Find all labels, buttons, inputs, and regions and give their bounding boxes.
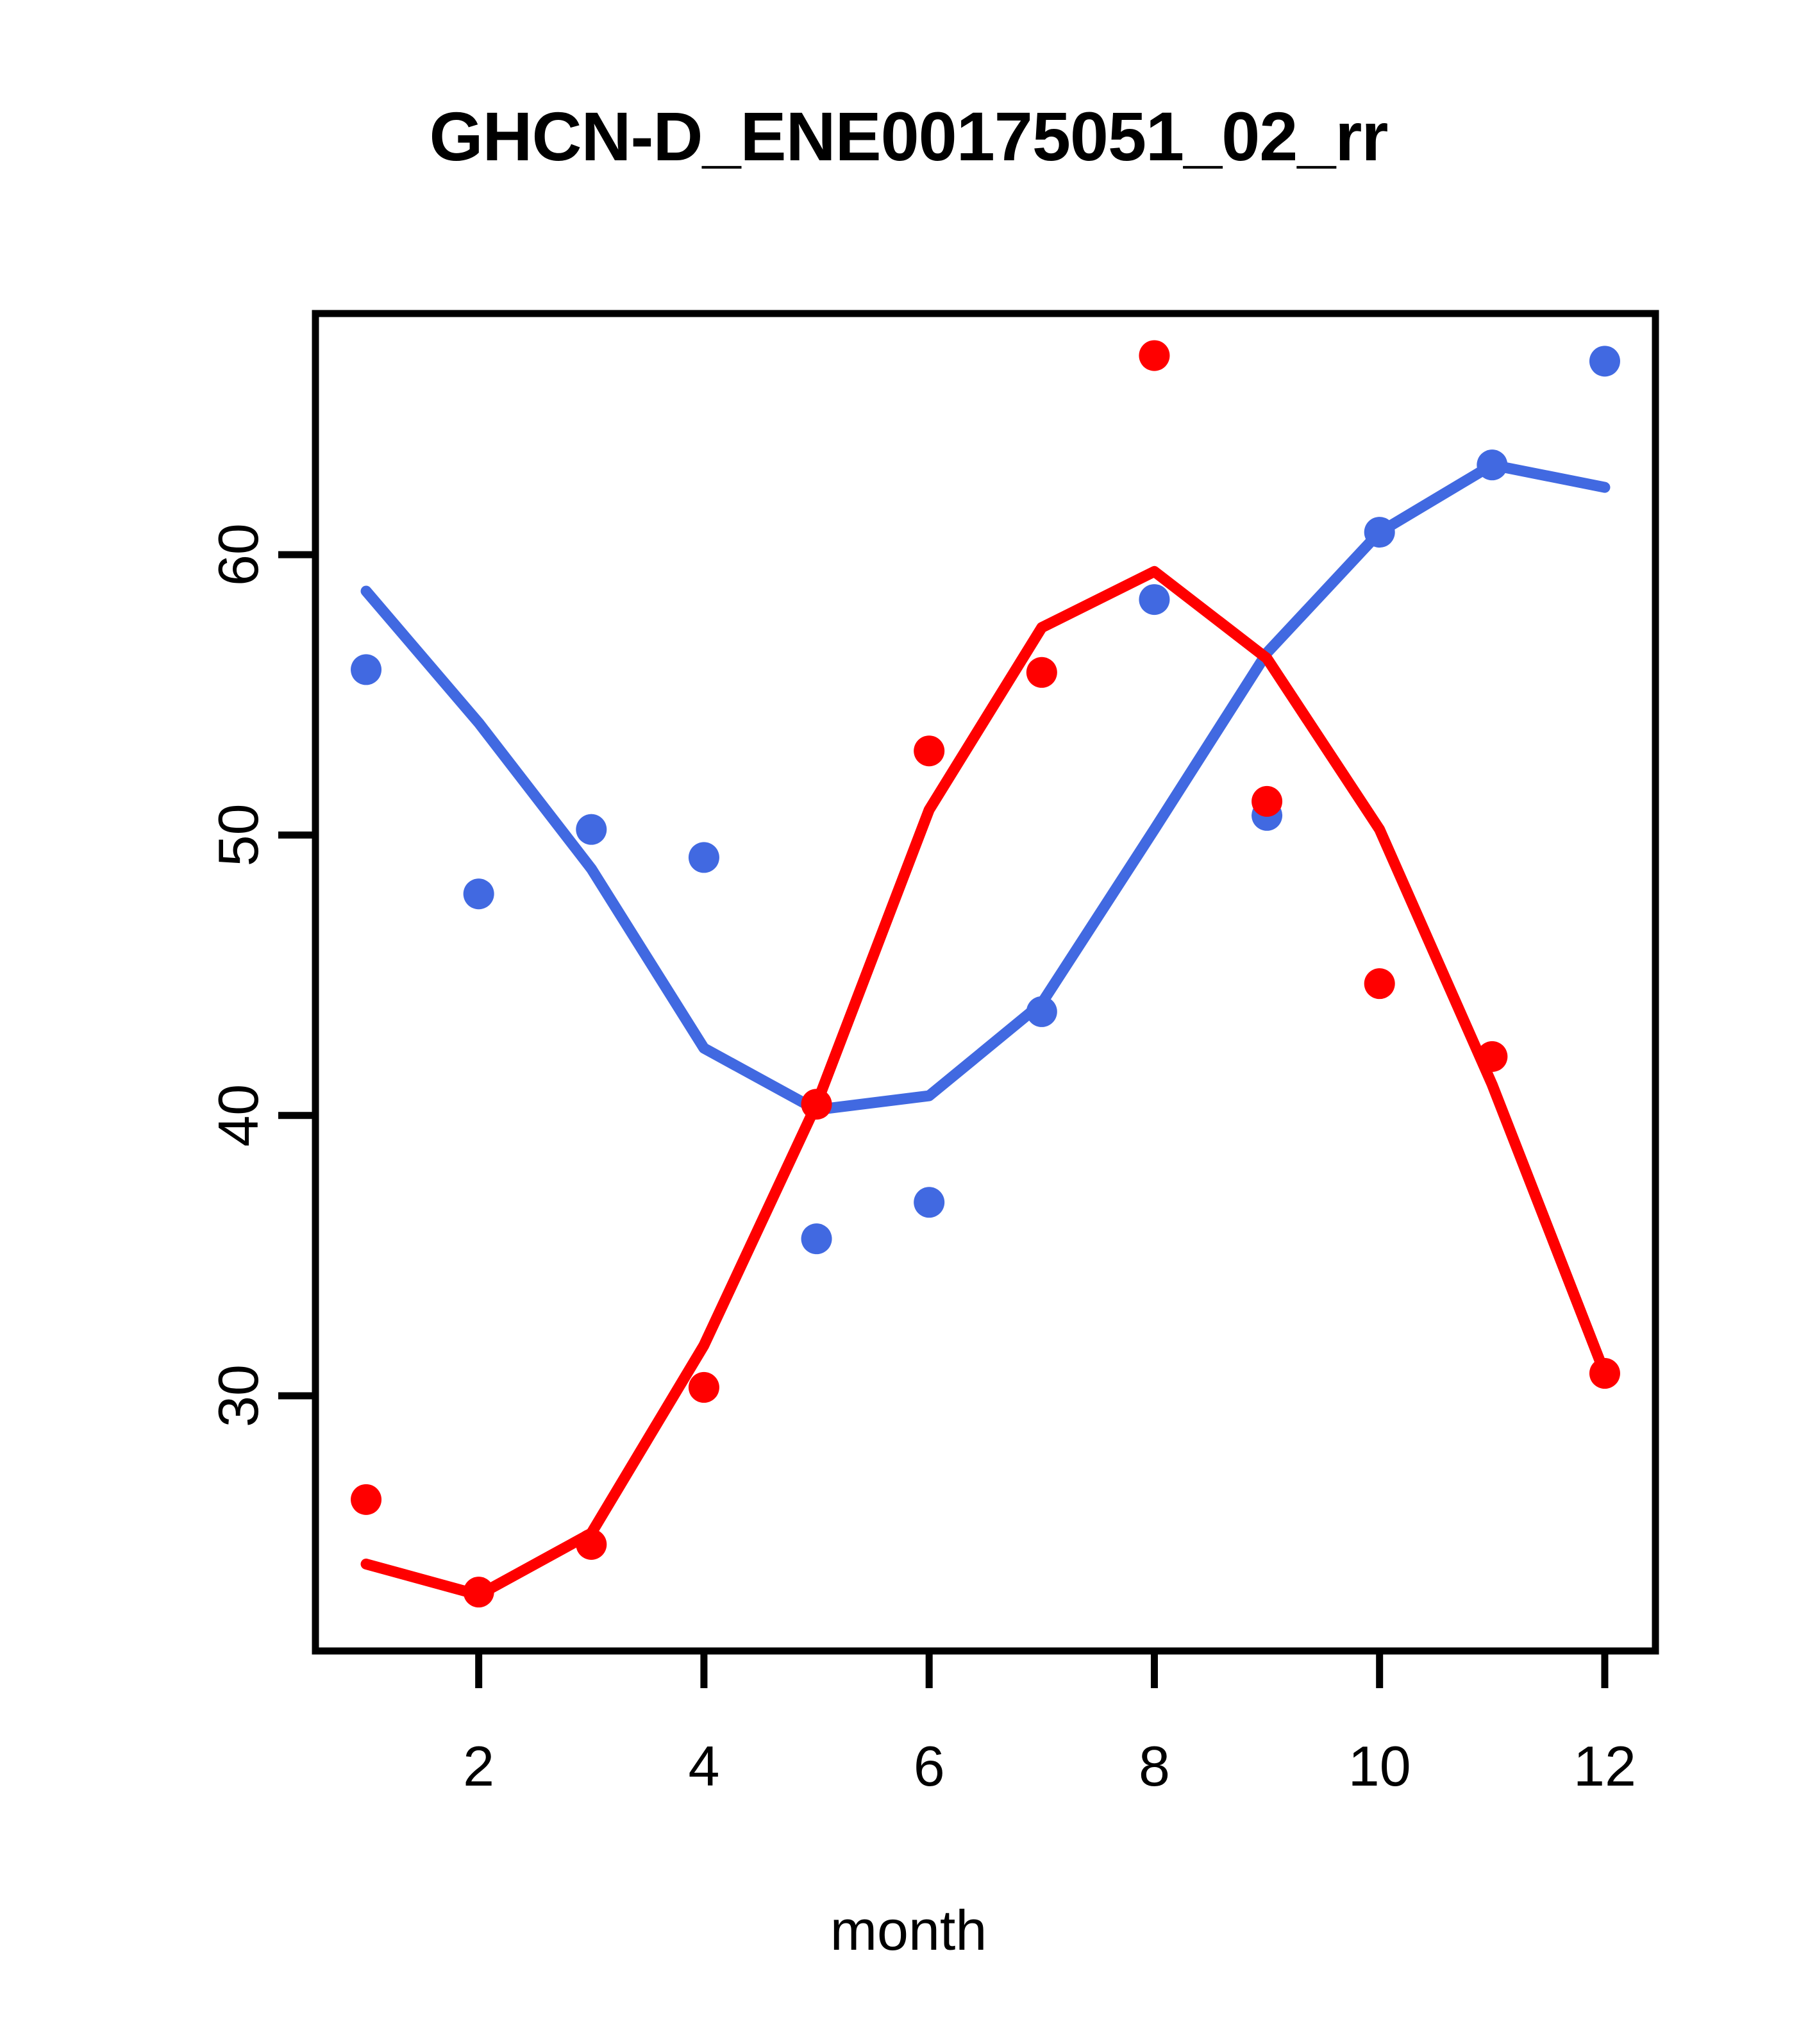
- series-line-blue: [366, 465, 1605, 1110]
- data-point-blue: [914, 1187, 944, 1218]
- x-tick-label: 8: [1139, 1734, 1170, 1798]
- y-tick-label: 60: [206, 523, 270, 586]
- data-point-red: [1589, 1358, 1620, 1389]
- data-point-blue: [464, 878, 494, 909]
- data-point-red: [1364, 968, 1395, 999]
- plot-area: 24681012 30405060: [0, 0, 1817, 2044]
- data-point-red: [1139, 340, 1169, 371]
- data-point-blue: [801, 1223, 832, 1254]
- data-point-blue: [1589, 346, 1620, 376]
- data-point-blue: [689, 842, 719, 873]
- data-point-blue: [1477, 449, 1507, 480]
- data-point-blue: [351, 654, 381, 685]
- y-tick-label: 40: [206, 1084, 270, 1147]
- data-point-blue: [1364, 517, 1395, 548]
- x-tick-label: 2: [463, 1734, 494, 1798]
- y-axis-ticks: 30405060: [206, 523, 315, 1427]
- x-tick-label: 6: [914, 1734, 945, 1798]
- x-tick-label: 10: [1348, 1734, 1411, 1798]
- data-point-red: [464, 1577, 494, 1607]
- plot-frame: [315, 314, 1655, 1651]
- data-point-blue: [1139, 584, 1169, 615]
- series-line-red: [366, 571, 1605, 1595]
- data-point-red: [914, 735, 944, 766]
- data-point-red: [1252, 786, 1282, 817]
- x-tick-label: 12: [1573, 1734, 1636, 1798]
- data-point-red: [801, 1089, 832, 1119]
- data-point-blue: [1026, 996, 1057, 1027]
- data-point-red: [689, 1372, 719, 1403]
- chart-figure: GHCN-D_ENE00175051_02_rr 24681012 304050…: [0, 0, 1817, 2044]
- data-point-blue: [576, 814, 607, 845]
- x-axis-ticks: 24681012: [463, 1651, 1636, 1798]
- data-point-red: [351, 1484, 381, 1515]
- series-lines: [366, 465, 1605, 1595]
- x-axis-label: month: [0, 1898, 1817, 1963]
- x-tick-label: 4: [688, 1734, 719, 1798]
- y-tick-label: 50: [206, 803, 270, 866]
- data-point-red: [1477, 1041, 1507, 1072]
- data-point-red: [1026, 657, 1057, 688]
- series-points: [351, 340, 1620, 1608]
- y-tick-label: 30: [206, 1364, 270, 1427]
- data-point-red: [576, 1529, 607, 1560]
